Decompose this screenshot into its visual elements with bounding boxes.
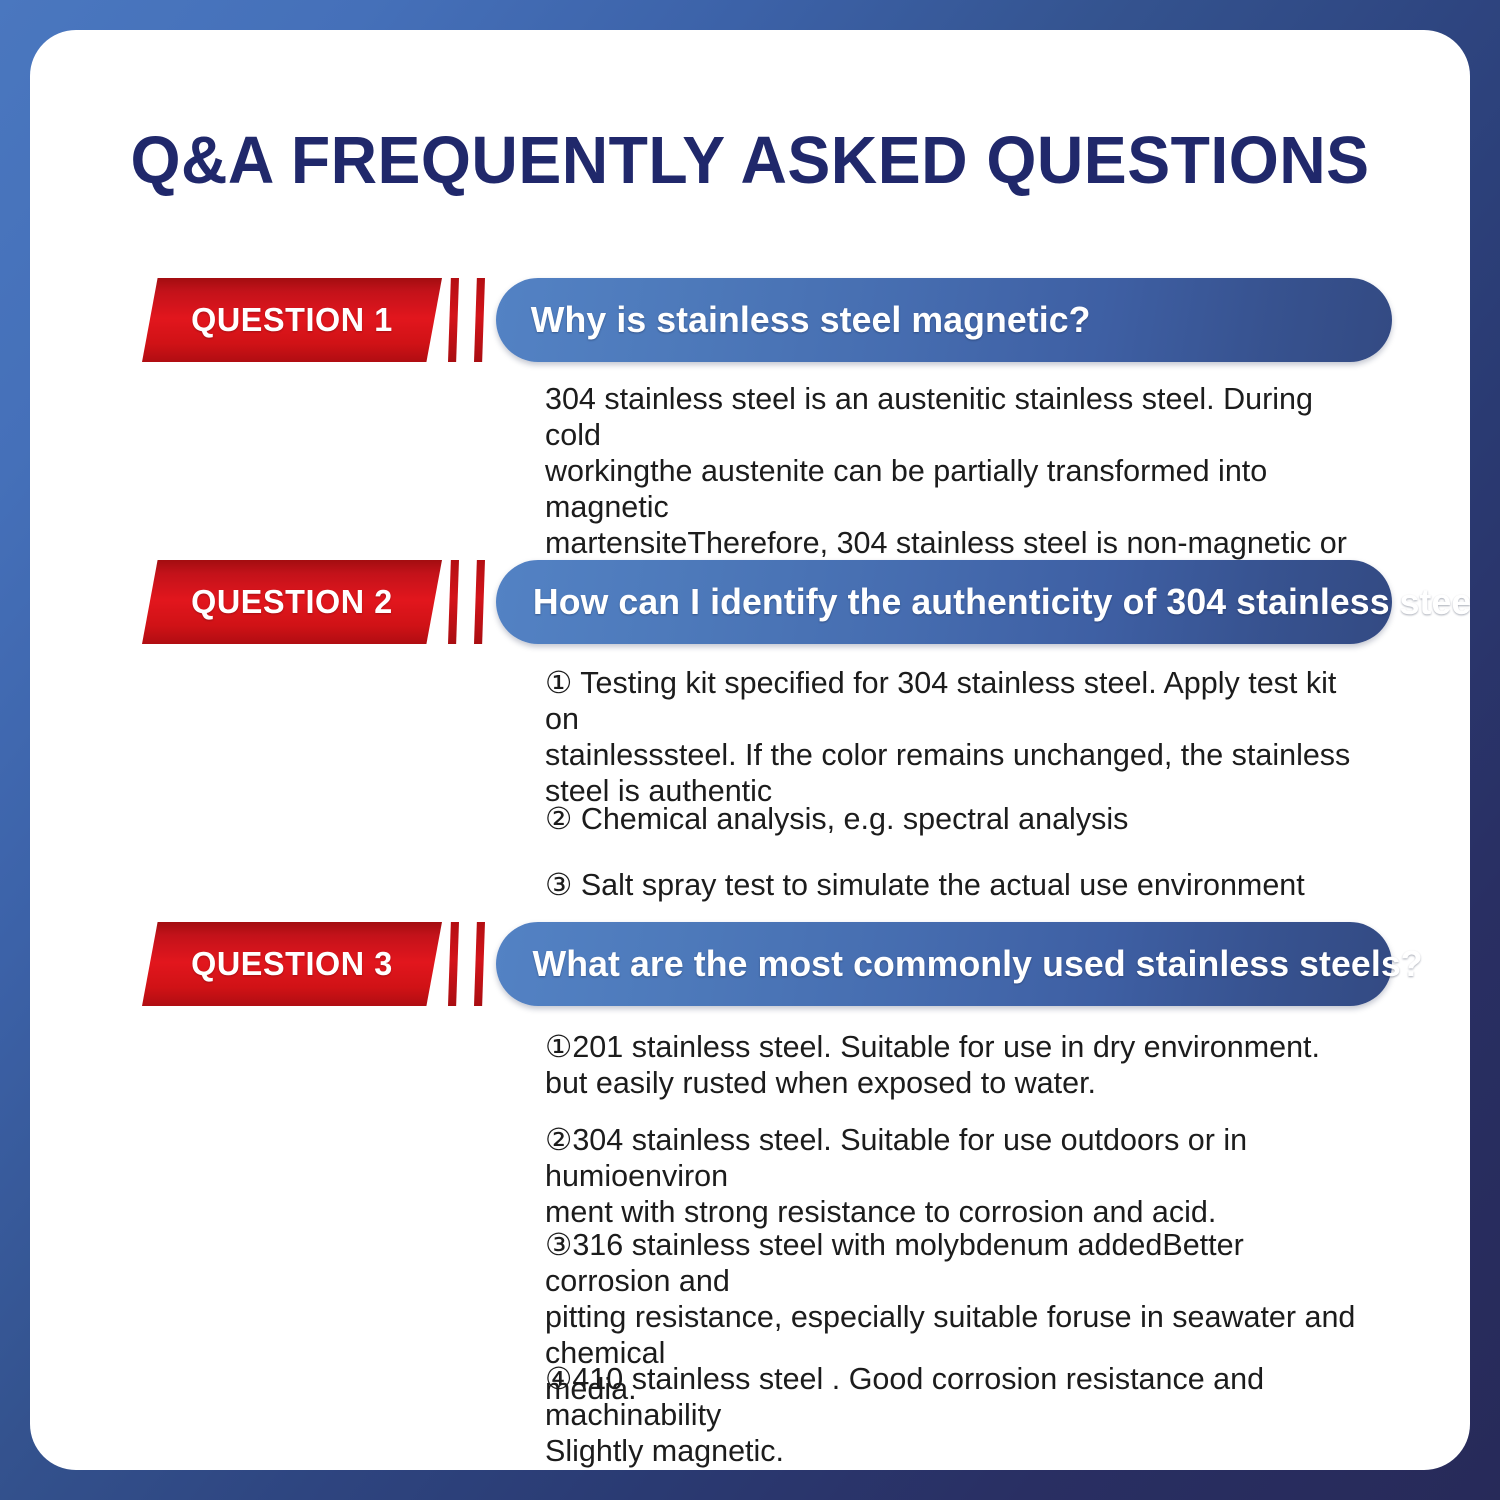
faq-row-1: QUESTION 1 Why is stainless steel magnet… xyxy=(30,278,1470,362)
question-text-2: How can I identify the authenticity of 3… xyxy=(501,581,1470,623)
question-text-1: Why is stainless steel magnetic? xyxy=(499,299,1116,341)
page-title: Q&A FREQUENTLY ASKED QUESTIONS xyxy=(59,122,1441,199)
answer-text-3-1: ①201 stainless steel. Suitable for use i… xyxy=(545,1030,1375,1102)
answer-text-2-2: ② Chemical analysis, e.g. spectral analy… xyxy=(545,802,1375,838)
answer-text-3-2: ②304 stainless steel. Suitable for use o… xyxy=(545,1123,1375,1231)
page-background: Q&A FREQUENTLY ASKED QUESTIONS QUESTION … xyxy=(0,0,1500,1500)
slash-icon-2a xyxy=(448,560,459,644)
question-bar-3[interactable]: What are the most commonly used stainles… xyxy=(496,922,1392,1006)
slash-icon-1b xyxy=(474,278,485,362)
question-bar-2[interactable]: How can I identify the authenticity of 3… xyxy=(496,560,1392,644)
faq-card: Q&A FREQUENTLY ASKED QUESTIONS QUESTION … xyxy=(30,30,1470,1470)
badge-label-1: QUESTION 1 xyxy=(145,278,439,362)
question-text-3: What are the most commonly used stainles… xyxy=(501,943,1449,985)
question-badge-3[interactable]: QUESTION 3 xyxy=(142,922,442,1006)
slash-icon-1a xyxy=(448,278,459,362)
question-badge-1[interactable]: QUESTION 1 xyxy=(142,278,442,362)
answer-text-2-1: ① Testing kit specified for 304 stainles… xyxy=(545,666,1375,810)
slash-icon-3a xyxy=(448,922,459,1006)
question-bar-1[interactable]: Why is stainless steel magnetic? xyxy=(496,278,1392,362)
faq-row-2: QUESTION 2 How can I identify the authen… xyxy=(30,560,1470,644)
badge-label-2: QUESTION 2 xyxy=(145,560,439,644)
question-badge-2[interactable]: QUESTION 2 xyxy=(142,560,442,644)
slash-icon-2b xyxy=(474,560,485,644)
answer-text-3-4: ④410 stainless steel . Good corrosion re… xyxy=(545,1362,1375,1470)
badge-label-3: QUESTION 3 xyxy=(145,922,439,1006)
answer-text-2-3: ③ Salt spray test to simulate the actual… xyxy=(545,868,1375,904)
slash-icon-3b xyxy=(474,922,485,1006)
faq-row-3: QUESTION 3 What are the most commonly us… xyxy=(30,922,1470,1006)
